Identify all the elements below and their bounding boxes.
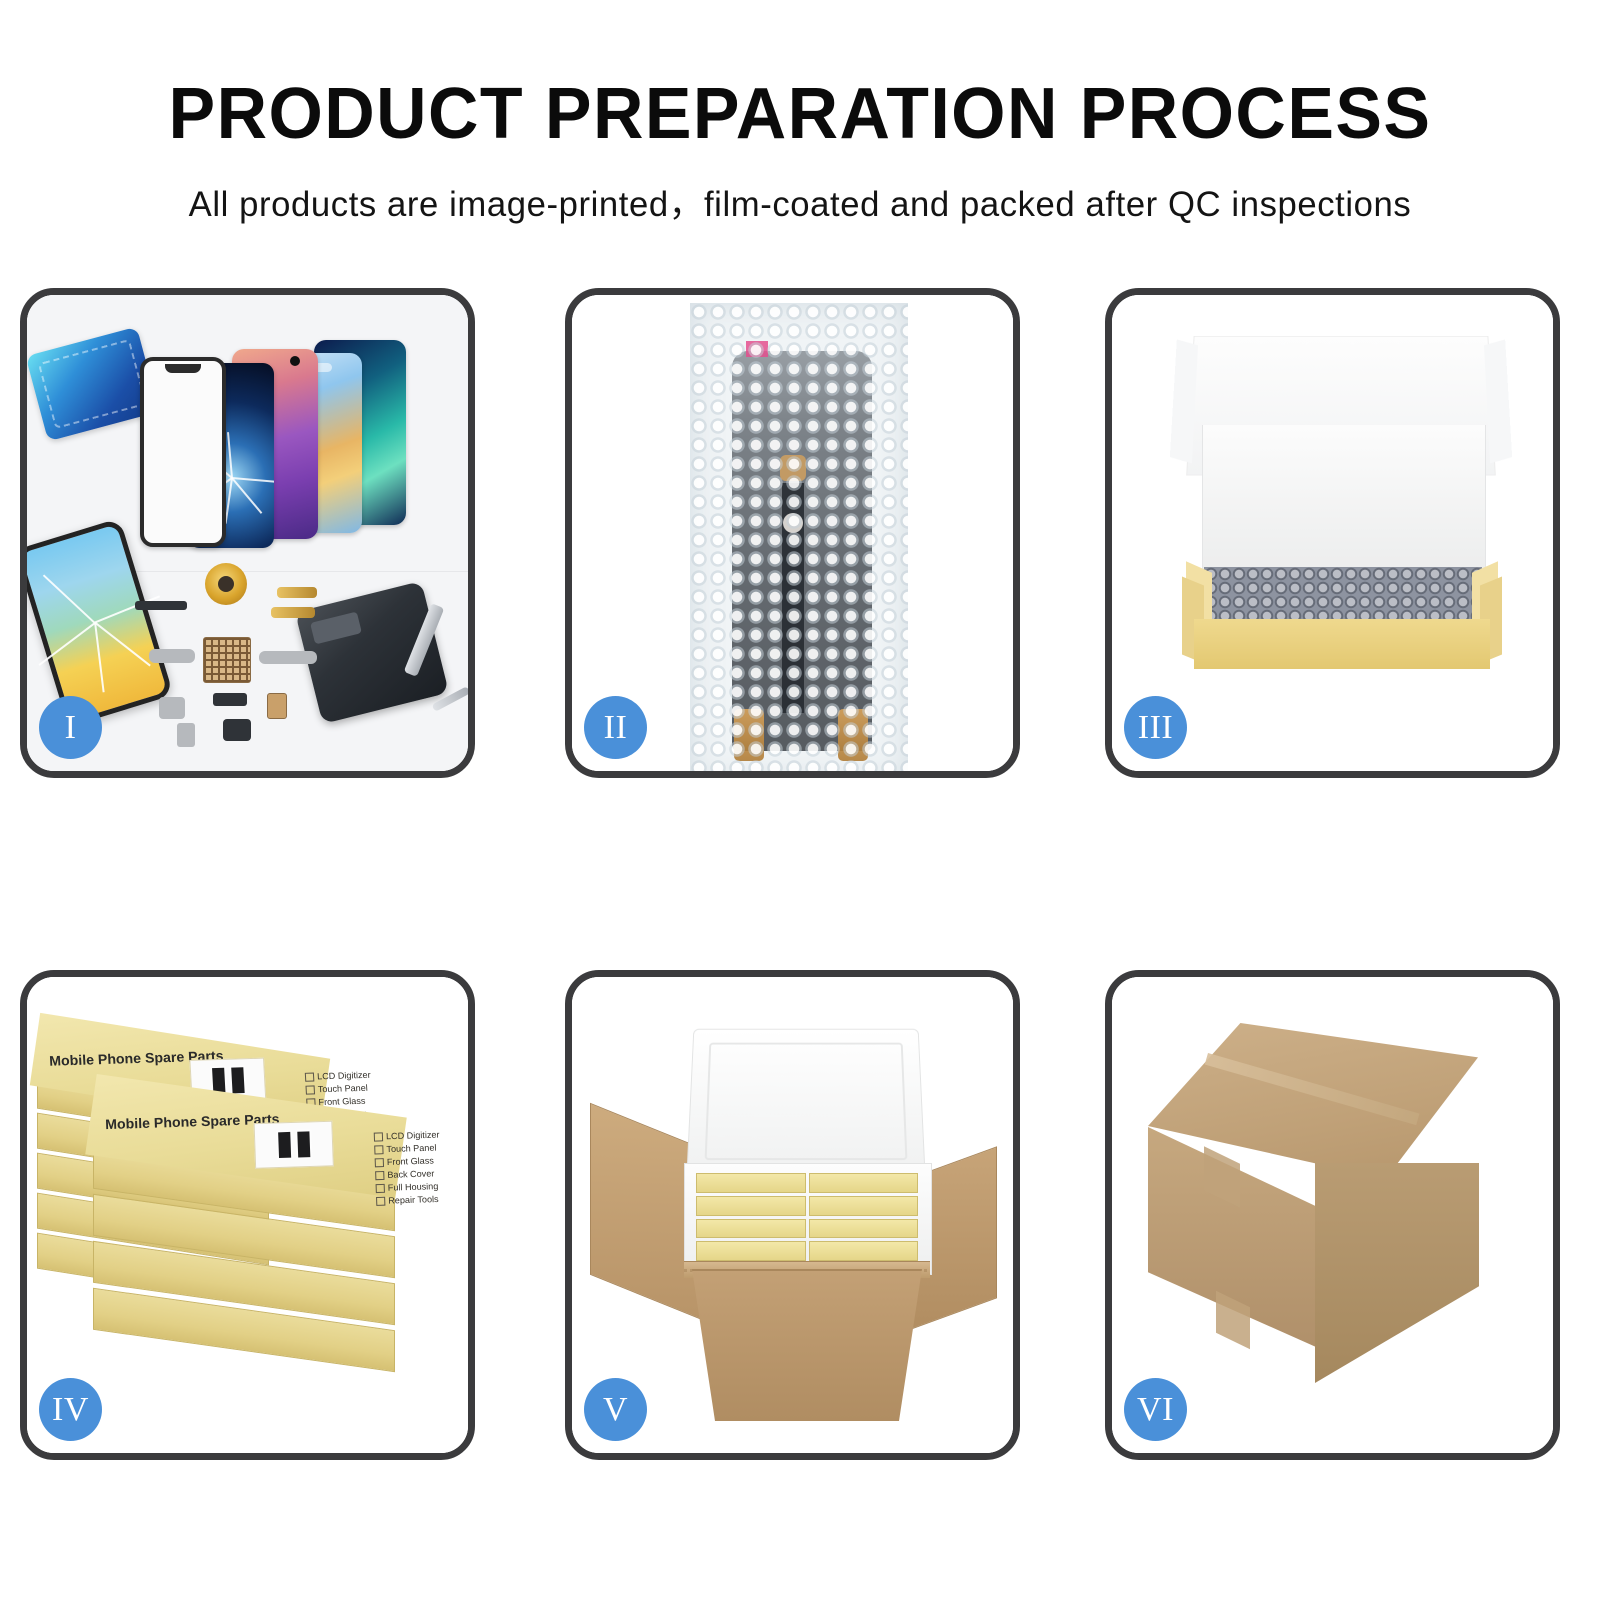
yellow-box-unit	[809, 1196, 919, 1216]
foam-cooler-lid	[686, 1029, 925, 1176]
step-badge-5: V	[584, 1378, 647, 1441]
volume-flex-part	[259, 651, 317, 664]
retail-box-product-image-front	[254, 1121, 334, 1169]
yellow-box-unit	[809, 1173, 919, 1193]
step-badge-1: I	[39, 696, 102, 759]
process-step-panel-5[interactable]: V	[565, 970, 1020, 1460]
step-5-image	[572, 977, 1013, 1453]
repair-tool-part	[404, 603, 445, 677]
sim-tray-part	[159, 697, 185, 719]
ic-chip-part	[203, 637, 251, 683]
step-4-image: Mobile Phone Spare Parts LCD Digitizer T…	[27, 977, 468, 1453]
product-image-phone-b	[295, 1129, 312, 1159]
bubble-wrap-bag	[690, 303, 908, 771]
white-foam-insert	[1202, 425, 1486, 573]
step-2-image	[572, 295, 1013, 771]
product-image-phone-b	[229, 1065, 247, 1095]
yellow-box-unit	[696, 1173, 806, 1193]
front-glass-panel	[140, 357, 226, 547]
flex-cable-part-2	[271, 607, 315, 618]
page-title: PRODUCT PREPARATION PROCESS	[24, 0, 1576, 150]
page-subtitle: All products are image-printed，film-coat…	[8, 150, 1592, 227]
yellow-box-unit	[809, 1241, 919, 1261]
product-image-phone-a	[276, 1130, 293, 1160]
yellow-box-unit	[696, 1219, 806, 1239]
process-step-panel-3[interactable]: III	[1105, 288, 1560, 778]
step-badge-3: III	[1124, 696, 1187, 759]
step-badge-4: IV	[39, 1378, 102, 1441]
yellow-box-column-right	[809, 1173, 919, 1261]
phone-screen-stack	[132, 335, 462, 565]
yellow-boxes-inside	[696, 1173, 918, 1261]
yellow-box-unit	[809, 1219, 919, 1239]
page-header: PRODUCT PREPARATION PROCESS All products…	[0, 0, 1600, 227]
checklist-item: Repair Tools	[376, 1193, 442, 1208]
yellow-box-tray	[1182, 563, 1502, 683]
carton-body	[692, 1269, 922, 1421]
yellow-box-unit	[696, 1241, 806, 1261]
connector-part	[267, 693, 287, 719]
process-step-panel-4[interactable]: Mobile Phone Spare Parts LCD Digitizer T…	[20, 970, 475, 1460]
step-badge-6: VI	[1124, 1378, 1187, 1441]
retail-box-stack: Mobile Phone Spare Parts LCD Digitizer T…	[35, 1003, 465, 1433]
retail-box-checklist-front: LCD Digitizer Touch Panel Front Glass Ba…	[333, 1129, 442, 1210]
step-badge-2: II	[584, 696, 647, 759]
button-flex-part	[149, 649, 195, 663]
sim-eject-part	[177, 723, 195, 747]
vibration-motor-part	[213, 693, 247, 706]
flex-cable-part-1	[277, 587, 317, 598]
camera-module-part	[223, 719, 251, 741]
bubble-texture-overlay	[690, 303, 908, 771]
process-step-panel-2[interactable]: II	[565, 288, 1020, 778]
process-step-panel-6[interactable]: VI	[1105, 970, 1560, 1460]
wireless-charging-coil-part	[205, 563, 247, 605]
yellow-box-column-left	[696, 1173, 806, 1261]
yellow-box-unit	[696, 1196, 806, 1216]
step-1-image	[27, 295, 468, 771]
screwdriver-part	[431, 686, 468, 712]
speaker-mesh-part	[135, 601, 187, 610]
process-step-panel-1[interactable]: I	[20, 288, 475, 778]
box-front-face	[1194, 619, 1490, 669]
step-6-image	[1112, 977, 1553, 1453]
step-3-image	[1112, 295, 1553, 771]
